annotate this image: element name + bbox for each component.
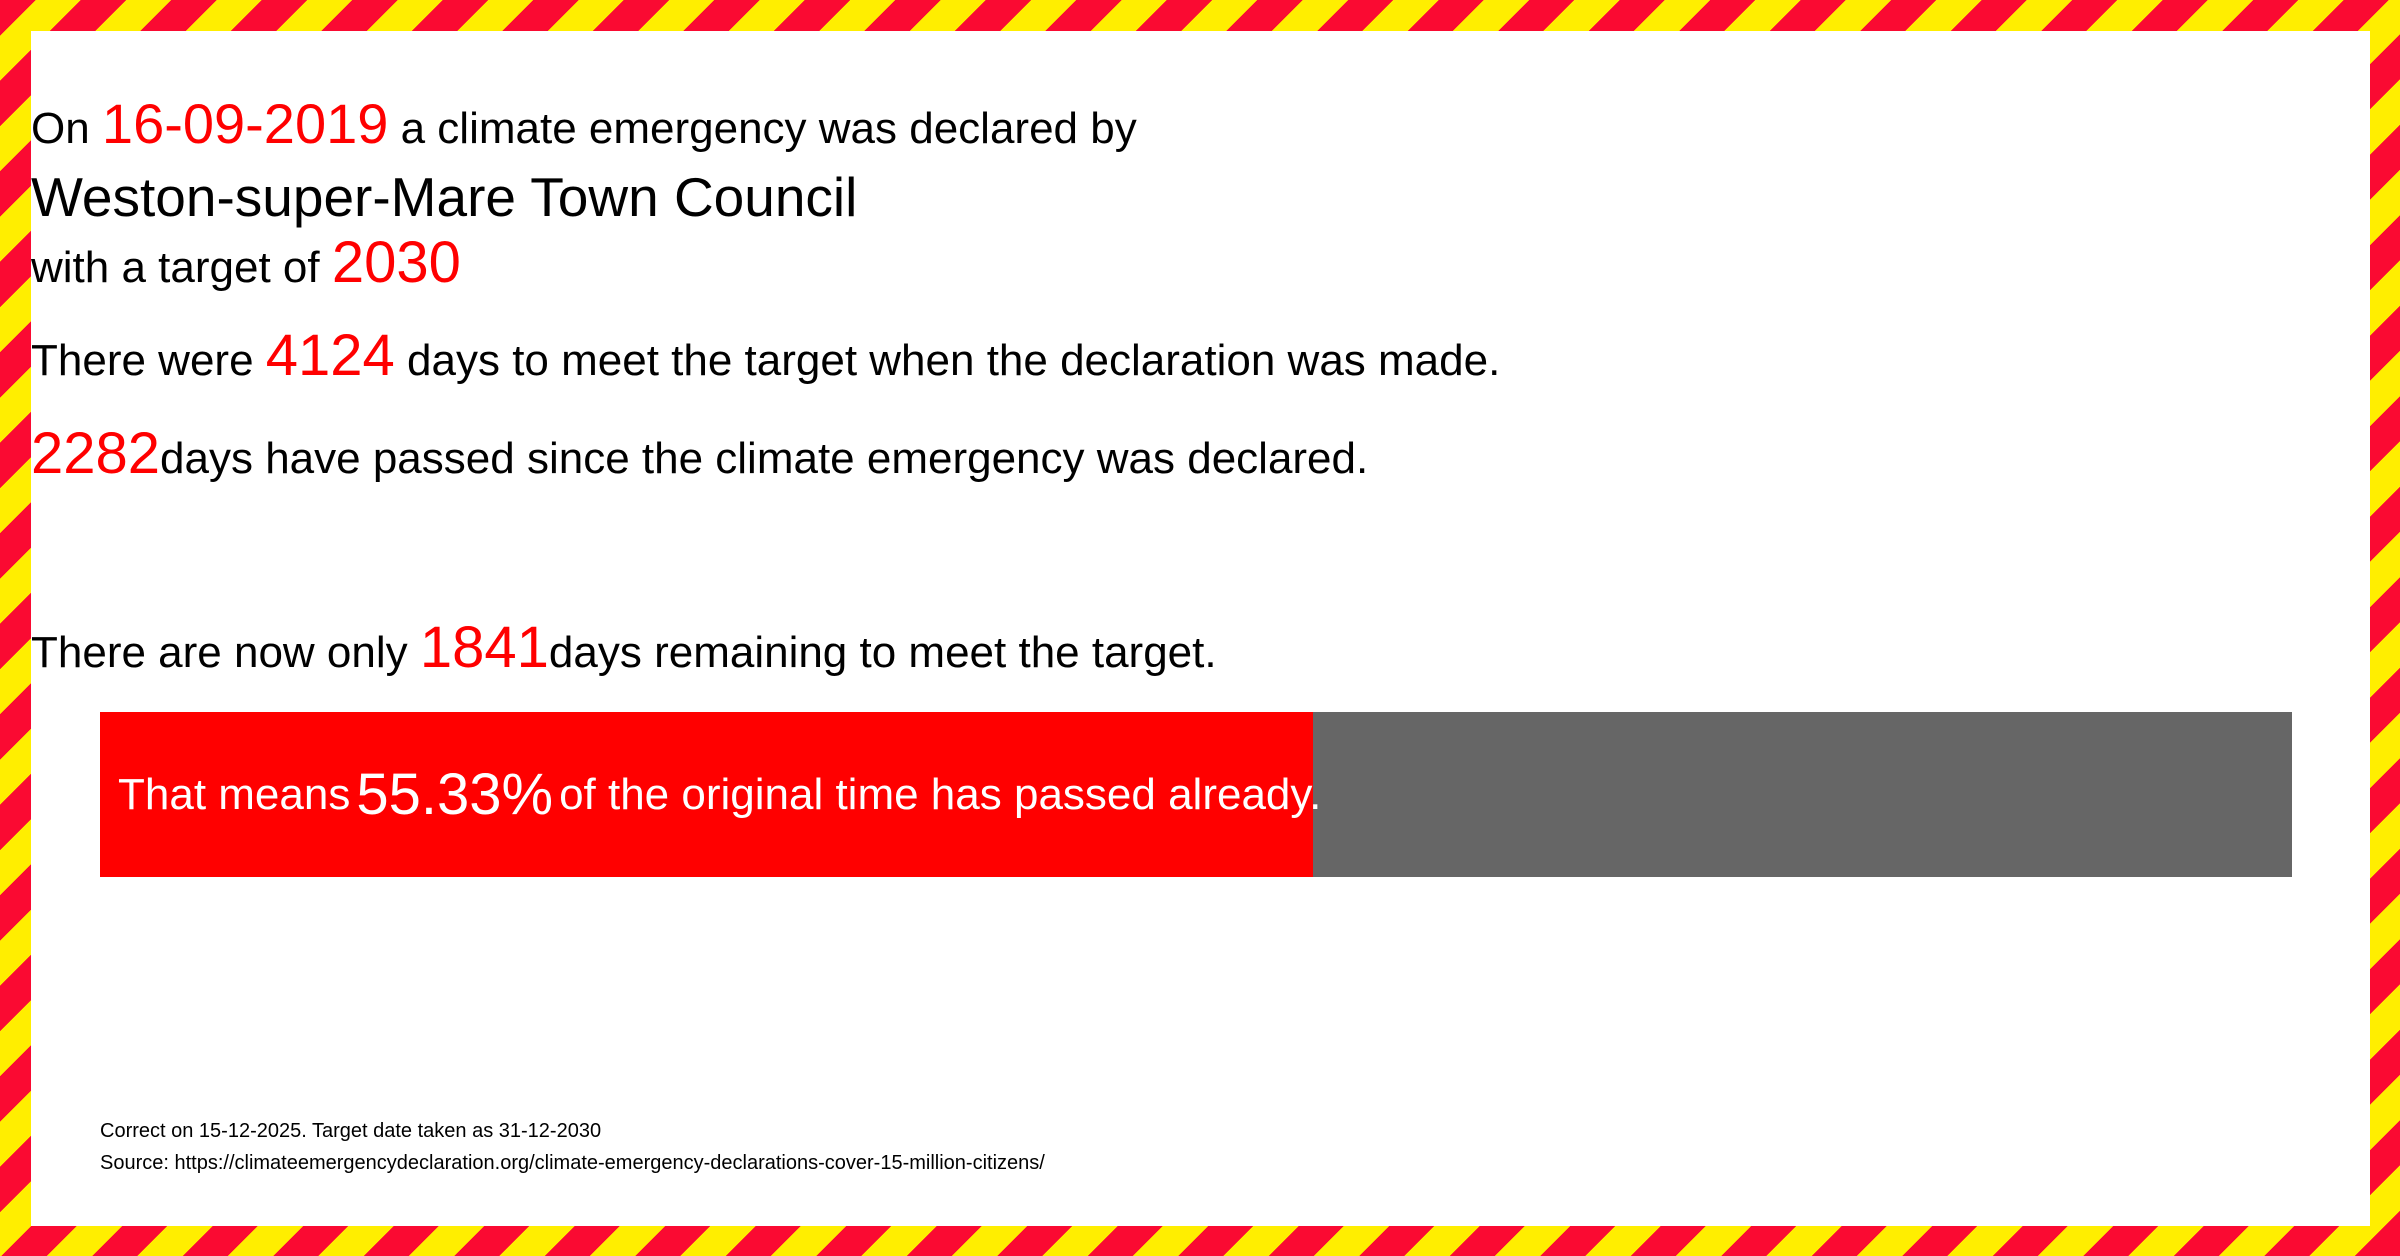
progress-percent-value: 55.33%: [350, 761, 559, 828]
days-passed-suffix-text: days have passed since the climate emerg…: [160, 434, 1368, 483]
footnotes: Correct on 15-12-2025. Target date taken…: [100, 1115, 1045, 1179]
authority-name: Weston-super-Mare Town Council: [31, 166, 857, 228]
days-to-meet-value: 4124: [266, 323, 395, 388]
days-to-meet-suffix-text: days to meet the target when the declara…: [395, 336, 1501, 385]
declaration-prefix-text: On: [31, 104, 102, 153]
declaration-date-value: 16-09-2019: [102, 92, 388, 155]
days-remaining-prefix-text: There are now only: [31, 628, 420, 677]
days-passed-line: 2282days have passed since the climate e…: [31, 425, 1368, 488]
target-prefix-text: with a target of: [31, 243, 332, 292]
declaration-date-line: On 16-09-2019 a climate emergency was de…: [31, 95, 1137, 158]
hazard-border-frame: On 16-09-2019 a climate emergency was de…: [0, 0, 2400, 1256]
progress-label-suffix-text: of the original time has passed already.: [559, 770, 1321, 820]
days-to-meet-prefix-text: There were: [31, 336, 266, 385]
days-passed-value: 2282: [31, 421, 160, 486]
footnote-correct-on: Correct on 15-12-2025. Target date taken…: [100, 1115, 1045, 1147]
declaring-authority-line: Weston-super-Mare Town Council: [31, 162, 857, 232]
declaration-suffix-text: a climate emergency was declared by: [388, 104, 1136, 153]
elapsed-time-progress-bar: That means 55.33%of the original time ha…: [100, 712, 2292, 877]
footnote-source: Source: https://climateemergencydeclarat…: [100, 1147, 1045, 1179]
days-remaining-line: There are now only 1841days remaining to…: [31, 619, 1217, 682]
target-year-line: with a target of 2030: [31, 234, 461, 297]
days-remaining-suffix-text: days remaining to meet the target.: [549, 628, 1217, 677]
progress-label-prefix-text: That means: [118, 770, 350, 820]
days-to-meet-line: There were 4124 days to meet the target …: [31, 327, 1500, 390]
card-body: On 16-09-2019 a climate emergency was de…: [31, 31, 2370, 1226]
target-year-value: 2030: [332, 230, 461, 295]
progress-bar-label: That means 55.33%of the original time ha…: [118, 712, 1321, 877]
days-remaining-value: 1841: [420, 615, 549, 680]
